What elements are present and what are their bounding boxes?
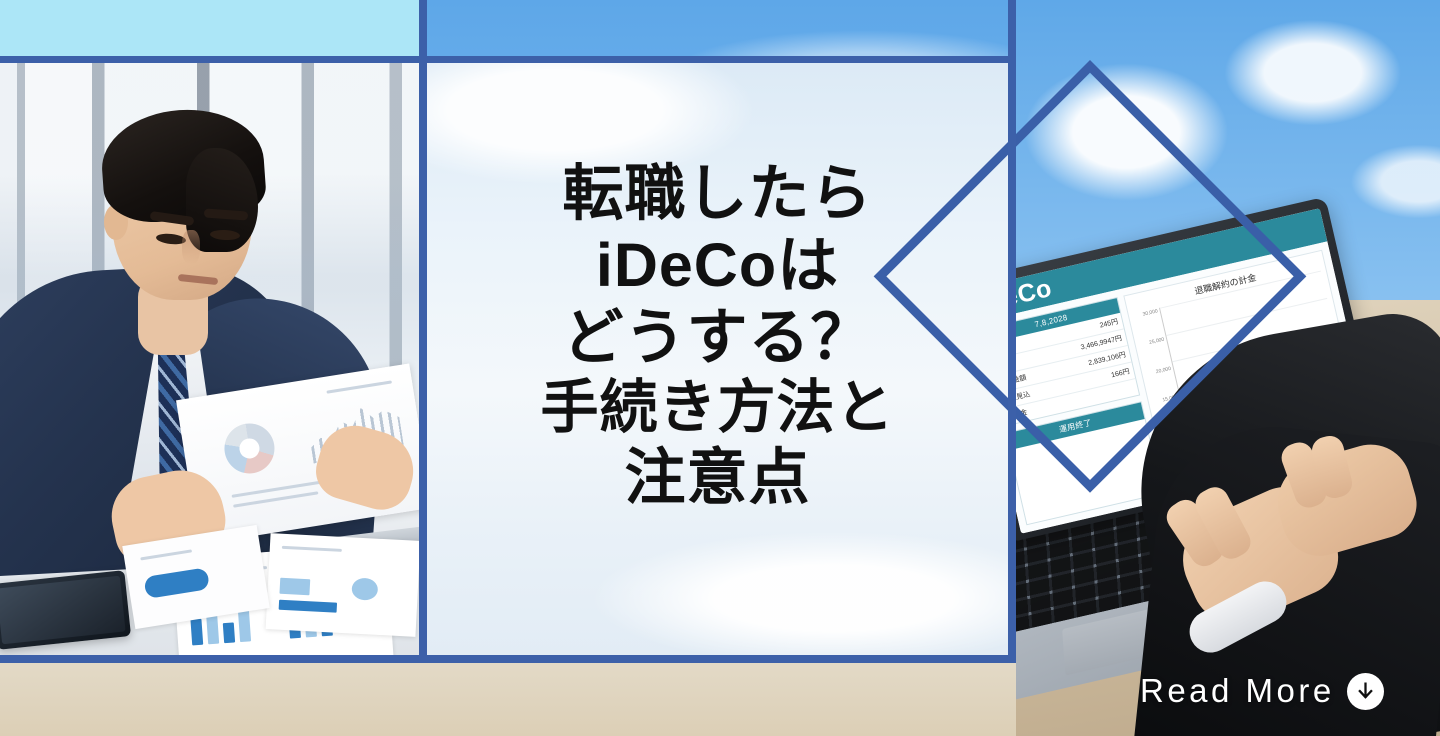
desk-document: [266, 533, 419, 637]
frame-line-vertical-right: [1008, 0, 1016, 663]
cyan-accent-band: [0, 0, 420, 58]
left-photo-businessman: [0, 62, 419, 655]
headline-line-4: 手続き方法と: [427, 374, 1008, 442]
nose: [182, 230, 200, 264]
banner-canvas: 転職したら iDeCoは どうする？ 手続き方法と 注意点 iDeCo 7,: [0, 0, 1440, 736]
paper-header-line: [326, 380, 392, 393]
frame-line-bottom: [0, 655, 1016, 663]
frame-line-vertical-left: [419, 0, 427, 663]
read-more-label: Read More: [1140, 672, 1335, 710]
headline-line-5: 注意点: [427, 442, 1008, 514]
tablet-device: [0, 570, 131, 650]
frame-line-top: [0, 56, 1016, 63]
donut-chart: [221, 420, 278, 477]
arrow-down-circle-icon: [1347, 673, 1384, 710]
headline-line-1: 転職したら: [427, 158, 1008, 230]
center-title-panel: 転職したら iDeCoは どうする？ 手続き方法と 注意点: [427, 62, 1008, 658]
page-title: 転職したら iDeCoは どうする？ 手続き方法と 注意点: [427, 158, 1008, 514]
read-more-button[interactable]: Read More: [1140, 672, 1384, 710]
